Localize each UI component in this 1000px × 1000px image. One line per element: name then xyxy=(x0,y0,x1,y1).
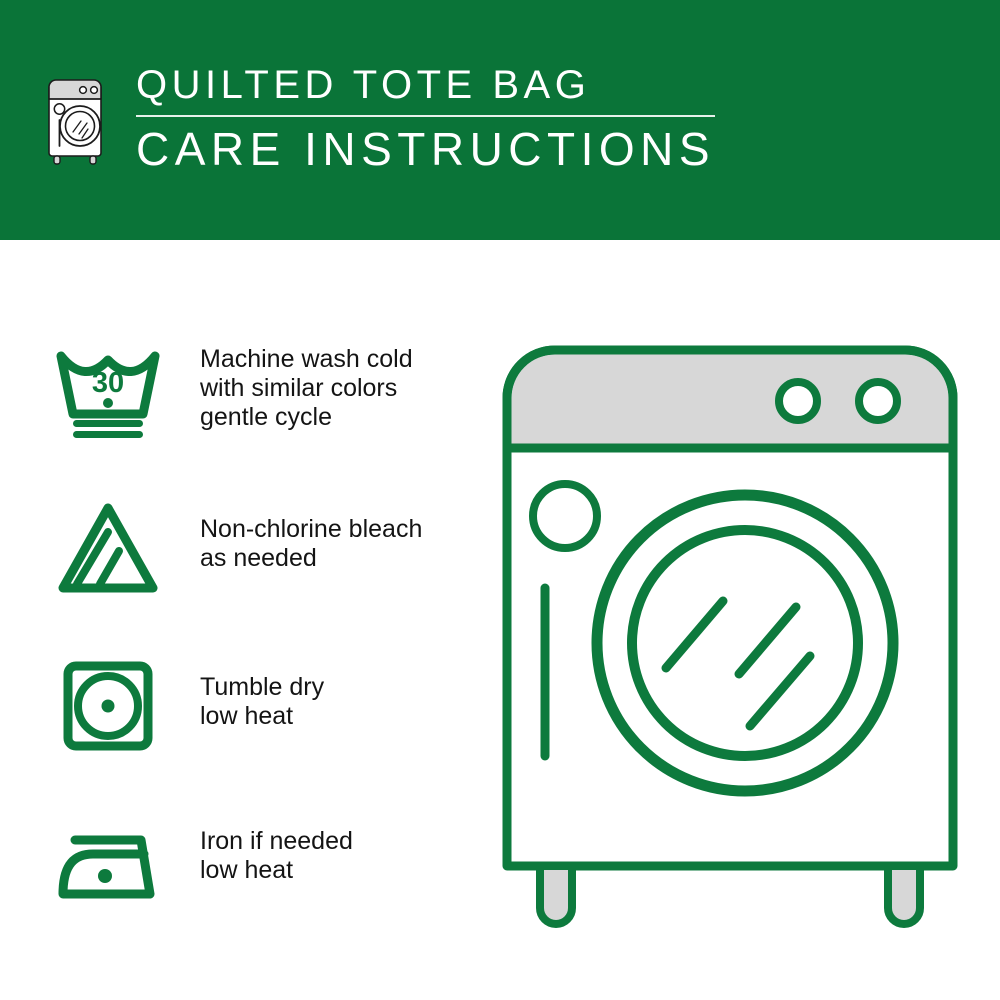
non-chlorine-bleach-triangle-icon xyxy=(48,493,168,603)
knob-left-icon xyxy=(779,382,817,420)
page-title-secondary: CARE INSTRUCTIONS xyxy=(136,123,715,175)
care-instruction-text: Iron if needed low heat xyxy=(200,809,353,885)
care-instruction-text: Non-chlorine bleach as needed xyxy=(200,493,422,573)
care-text-line: Non-chlorine bleach xyxy=(200,515,422,544)
knob-right-icon xyxy=(859,382,897,420)
washing-machine-logo-icon xyxy=(42,66,114,166)
care-symbol-list: 30 Machine wash cold with similar colors… xyxy=(48,335,478,967)
care-instruction-text: Tumble dry low heat xyxy=(200,651,324,731)
tumble-dry-low-heat-icon xyxy=(48,651,168,761)
care-text-line: with similar colors xyxy=(200,374,413,403)
content-area: 30 Machine wash cold with similar colors… xyxy=(0,240,1000,1000)
leg-left xyxy=(540,866,572,924)
list-item: Tumble dry low heat xyxy=(48,651,478,809)
care-text-line: gentle cycle xyxy=(200,403,413,432)
header-content: QUILTED TOTE BAG CARE INSTRUCTIONS xyxy=(42,62,715,175)
care-instruction-text: Machine wash cold with similar colors ge… xyxy=(200,335,413,432)
care-text-line: as needed xyxy=(200,544,422,573)
title-divider xyxy=(136,115,715,117)
page-title-primary: QUILTED TOTE BAG xyxy=(136,62,715,108)
header-title-block: QUILTED TOTE BAG CARE INSTRUCTIONS xyxy=(136,62,715,175)
list-item: 30 Machine wash cold with similar colors… xyxy=(48,335,478,493)
care-instructions-infographic: QUILTED TOTE BAG CARE INSTRUCTIONS 30 xyxy=(0,0,1000,1000)
care-text-line: low heat xyxy=(200,702,324,731)
door-inner-ring xyxy=(632,530,858,756)
leg-right xyxy=(888,866,920,924)
front-load-washing-machine-illustration xyxy=(495,338,965,938)
iron-low-heat-icon xyxy=(48,809,168,919)
header-banner: QUILTED TOTE BAG CARE INSTRUCTIONS xyxy=(0,0,1000,240)
care-text-line: Iron if needed xyxy=(200,827,353,856)
care-text-line: Machine wash cold xyxy=(200,345,413,374)
list-item: Iron if needed low heat xyxy=(48,809,478,967)
list-item: Non-chlorine bleach as needed xyxy=(48,493,478,651)
svg-text:30: 30 xyxy=(92,367,124,399)
care-text-line: low heat xyxy=(200,856,353,885)
care-text-line: Tumble dry xyxy=(200,673,324,702)
dial-indicator-icon xyxy=(533,484,597,548)
machine-wash-30-gentle-icon: 30 xyxy=(48,335,168,445)
